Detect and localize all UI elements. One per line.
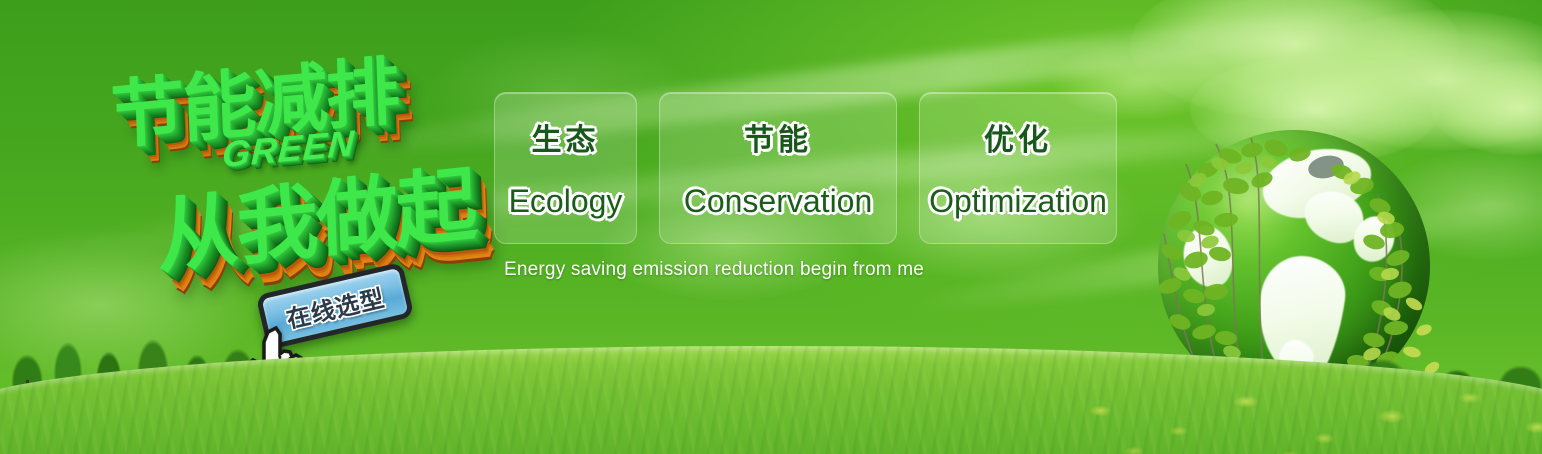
- headline-logo: 节能减排 GREEN 从我做起: [96, 36, 496, 266]
- green-energy-banner: 节能减排 GREEN 从我做起 在线选型 生态 Ecology 节能 Conse…: [0, 0, 1542, 454]
- headline-line-bottom: 从我做起: [155, 137, 477, 290]
- cloud-icon: [1130, 0, 1460, 120]
- cloud-icon: [1430, 60, 1542, 155]
- feature-card-conservation[interactable]: 节能 Conservation: [659, 92, 897, 244]
- feature-card-cn-label: 优化: [984, 115, 1052, 159]
- continent-landmass: [1177, 221, 1239, 293]
- feature-card-en-label: Optimization: [929, 183, 1107, 220]
- scattered-leaves-graphic: [1022, 374, 1542, 454]
- feature-card-list: 生态 Ecology 节能 Conservation 优化 Optimizati…: [494, 92, 1117, 244]
- grass-field-graphic: [0, 346, 1542, 454]
- feature-card-en-label: Ecology: [509, 183, 623, 220]
- feature-card-cn-label: 节能: [744, 115, 812, 159]
- banner-tagline: Energy saving emission reduction begin f…: [504, 259, 924, 281]
- feature-card-optimization[interactable]: 优化 Optimization: [919, 92, 1117, 244]
- feature-card-cn-label: 生态: [532, 115, 600, 159]
- feature-card-en-label: Conservation: [684, 183, 873, 220]
- feature-card-ecology[interactable]: 生态 Ecology: [494, 92, 637, 244]
